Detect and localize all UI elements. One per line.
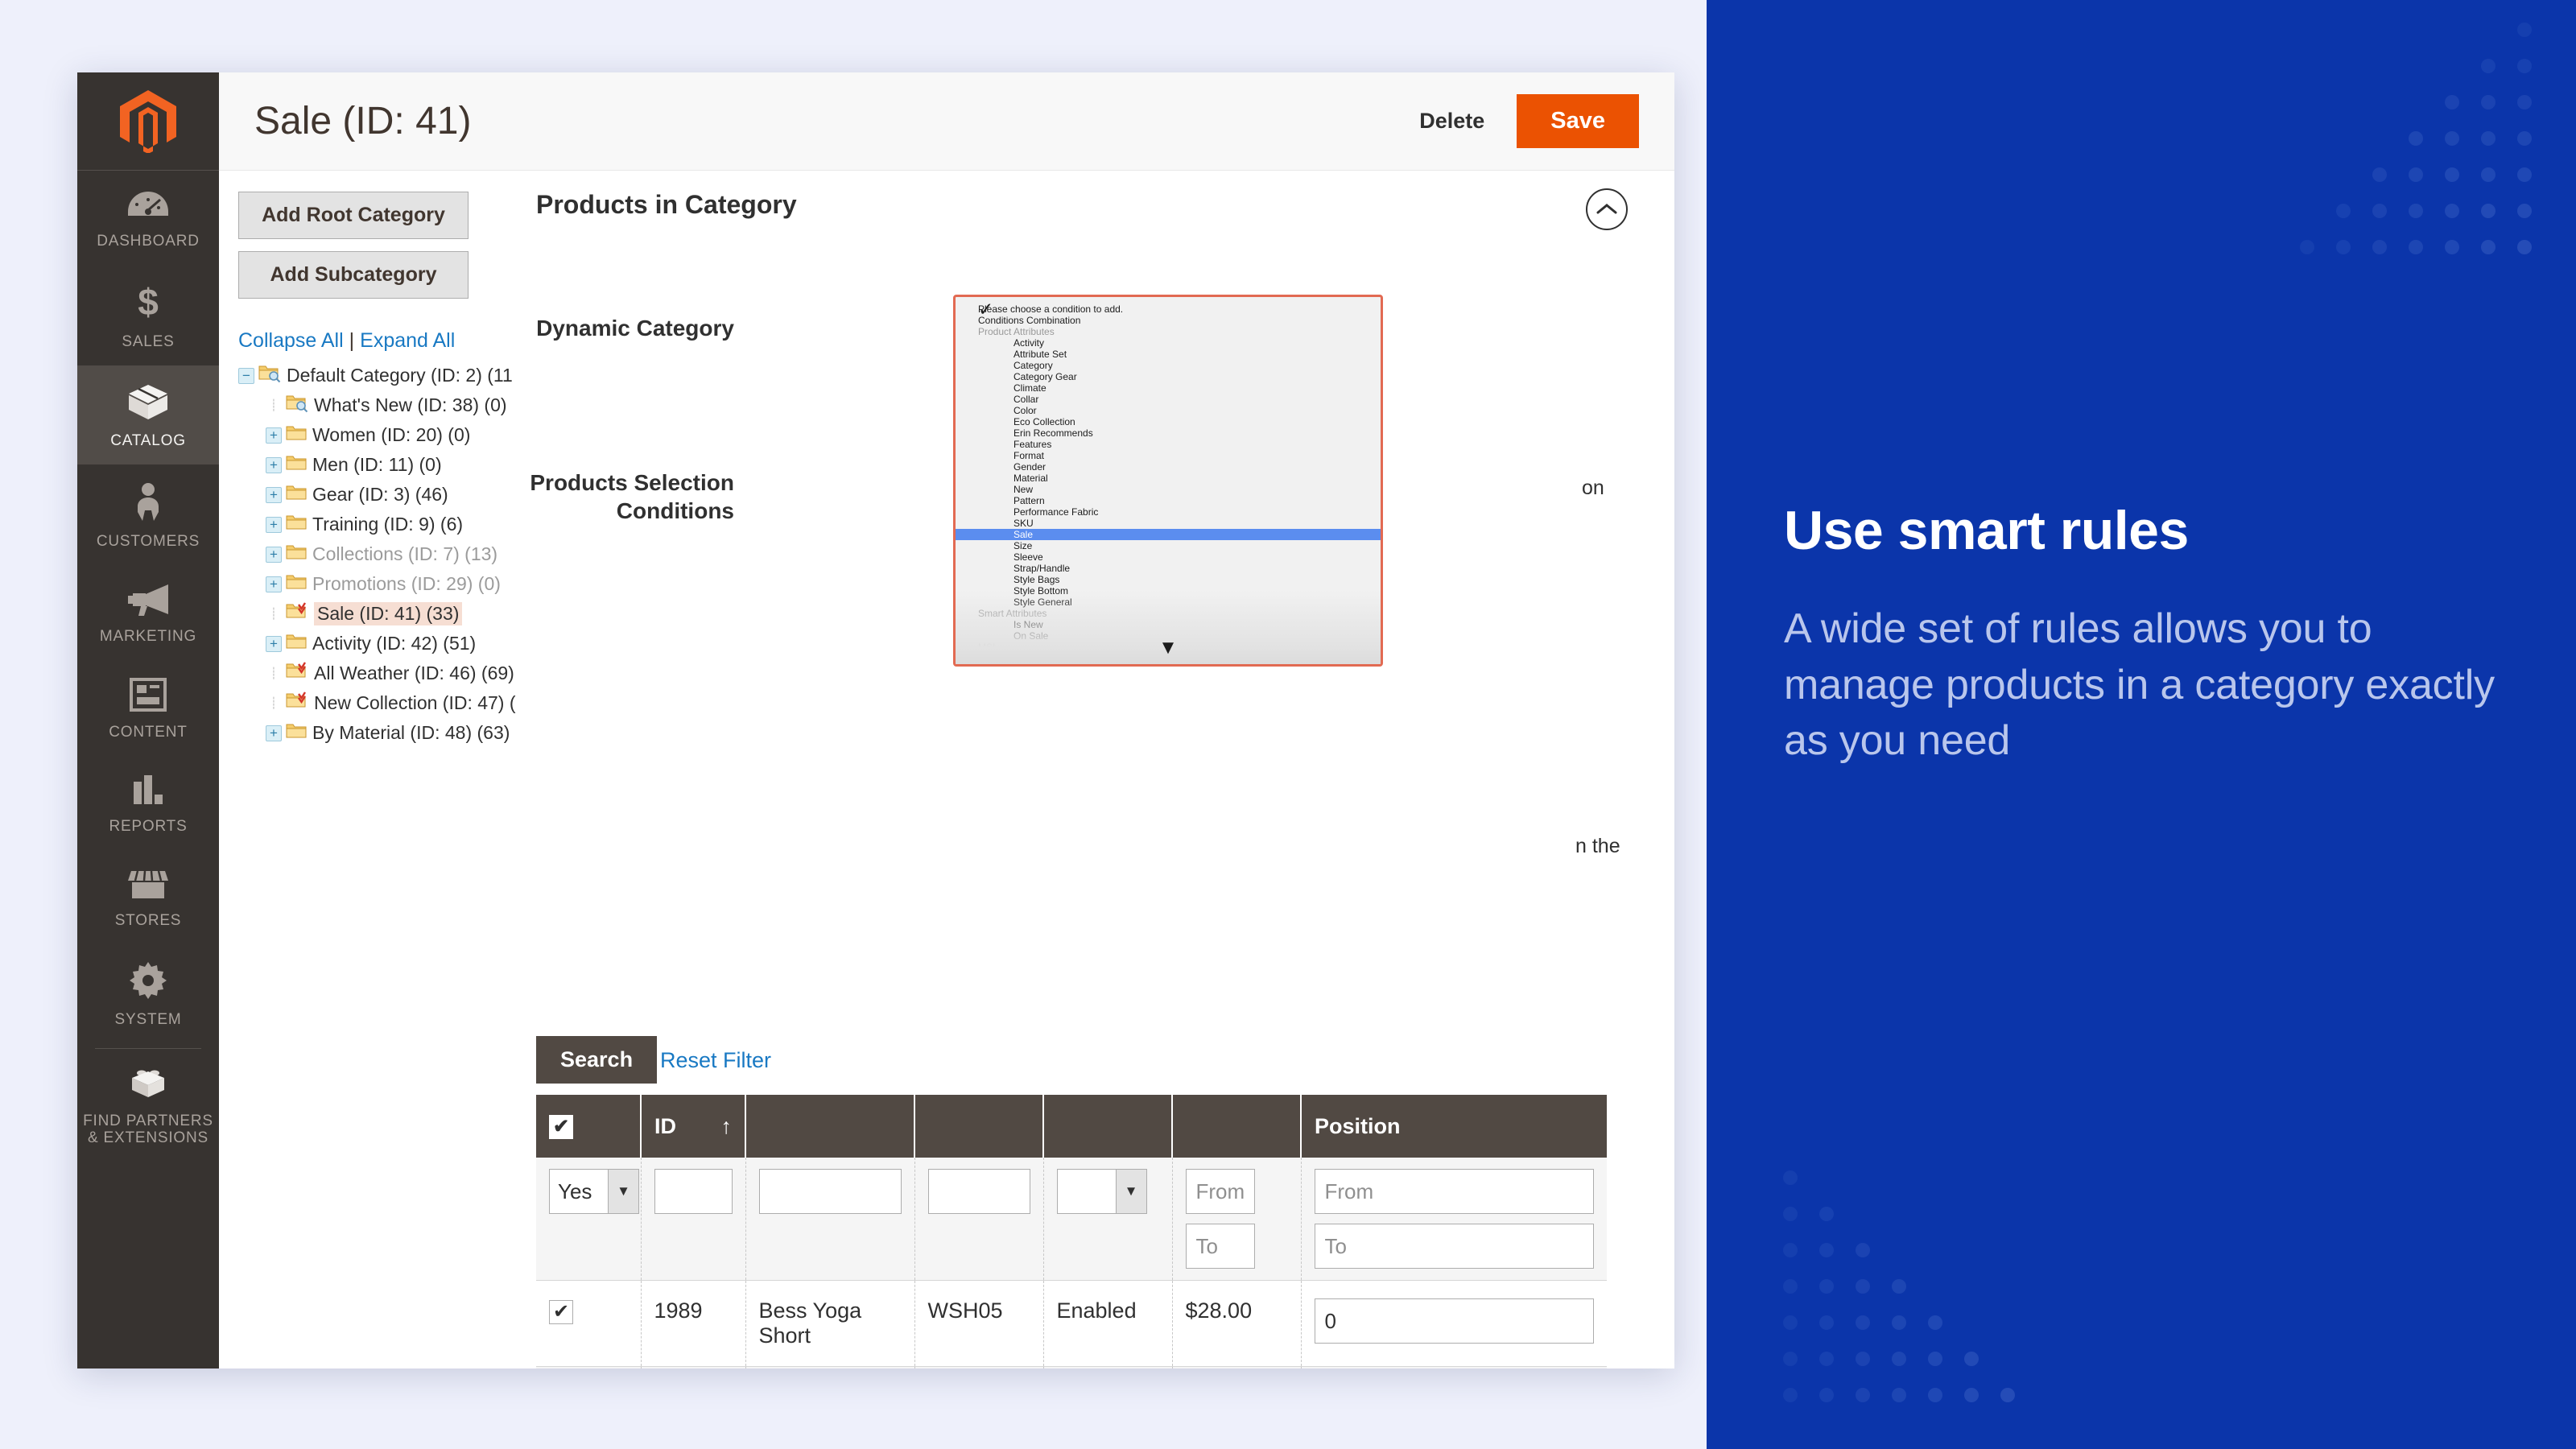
sidebar-item-label: DASHBOARD [80, 233, 216, 250]
folder-icon [286, 722, 307, 745]
dropdown-option[interactable]: Collar [956, 394, 1381, 405]
sidebar-item-label: CATALOG [80, 432, 216, 450]
grid-col-id[interactable]: ID ↑ [641, 1095, 745, 1158]
category-tree-node-label: By Material (ID: 48) (63) [312, 722, 510, 744]
category-tree-node[interactable]: ┊New Collection (ID: 47) ( [238, 688, 469, 718]
save-button[interactable]: Save [1517, 94, 1639, 148]
decorative-dot [1856, 1243, 1870, 1257]
decorative-dot [2481, 95, 2495, 109]
sidebar-item-reports[interactable]: REPORTS [77, 756, 219, 850]
filter-input-position-from[interactable] [1315, 1169, 1595, 1214]
category-tree-node-label: Training (ID: 9) (6) [312, 514, 463, 535]
row-cell-sku: WSH05 [914, 1281, 1043, 1367]
dropdown-option[interactable]: Color [956, 405, 1381, 416]
dropdown-option[interactable]: New [956, 484, 1381, 495]
promo-text-block: Use smart rules A wide set of rules allo… [1784, 502, 2508, 769]
filter-cell-select: Yes▼ [536, 1158, 641, 1281]
caret-down-icon: ▼ [1116, 1170, 1146, 1213]
filter-cell-position [1301, 1158, 1607, 1281]
decorative-dot [2517, 204, 2532, 218]
decorative-dot [2445, 204, 2459, 218]
dropdown-option[interactable]: Eco Collection [956, 416, 1381, 427]
decorative-dot [1783, 1170, 1798, 1185]
row-cell-price: $28.00 [1172, 1367, 1301, 1369]
dropdown-option[interactable]: Climate [956, 382, 1381, 394]
decorative-dot [2445, 167, 2459, 182]
filter-input-price-to[interactable] [1186, 1224, 1255, 1269]
row-cell-id: 1989 [641, 1281, 745, 1367]
dashboard-gauge-icon [80, 188, 216, 225]
obscured-text-fragment-2: n the [1575, 835, 1620, 858]
decorative-dot [1783, 1279, 1798, 1294]
tree-expand-icon[interactable]: + [266, 576, 282, 592]
folder-icon [286, 633, 307, 655]
tree-expand-icon[interactable]: + [266, 636, 282, 652]
promo-panel: Use smart rules A wide set of rules allo… [1707, 0, 2576, 1449]
dropdown-option[interactable]: Format [956, 450, 1381, 461]
tree-expand-icon[interactable]: + [266, 547, 282, 563]
dropdown-option[interactable]: Material [956, 473, 1381, 484]
magento-logo-icon [120, 90, 176, 153]
decorative-dot [1964, 1388, 1979, 1402]
sidebar-item-label: MARKETING [80, 628, 216, 646]
promo-subtitle: A wide set of rules allows you to manage… [1784, 601, 2508, 768]
category-tree-node-label: Activity (ID: 42) (51) [312, 633, 476, 654]
field-label-dynamic-category: Dynamic Category [485, 314, 734, 342]
decorative-dot [1819, 1207, 1834, 1221]
dropdown-option[interactable]: Sleeve [956, 551, 1381, 563]
puzzle-brick-icon [80, 1067, 216, 1104]
decorative-dot [2517, 95, 2532, 109]
tree-expand-icon[interactable]: + [266, 427, 282, 444]
tree-leaf-connector-icon: ┊ [266, 666, 282, 682]
sidebar-item-label: CUSTOMERS [80, 533, 216, 551]
tree-toggle-links: Collapse All|Expand All [238, 329, 469, 353]
sidebar-item-label: REPORTS [80, 818, 216, 836]
filter-select-value: Yes [550, 1170, 608, 1213]
filter-cell-sku [914, 1158, 1043, 1281]
decorative-dot [2409, 131, 2423, 146]
category-tree-node[interactable]: +Promotions (ID: 29) (0) [238, 569, 469, 599]
filter-input-name[interactable] [759, 1169, 902, 1214]
folder-icon [286, 514, 307, 536]
category-tree-panel: Add Root Category Add Subcategory Collap… [219, 171, 485, 748]
gear-icon [80, 962, 216, 1003]
promo-title: Use smart rules [1784, 502, 2508, 559]
sidebar-item-content[interactable]: CONTENT [77, 660, 219, 756]
section-title: Products in Category [536, 190, 797, 220]
dropdown-option[interactable]: Pattern [956, 495, 1381, 506]
dropdown-option[interactable]: Style Bottom [956, 585, 1381, 597]
row-cell-name: Maxima [745, 1367, 914, 1369]
dropdown-option[interactable]: Size [956, 540, 1381, 551]
folder-icon [286, 484, 307, 506]
dropdown-option[interactable]: Sale [956, 529, 1381, 540]
tree-collapse-icon[interactable]: − [238, 368, 254, 384]
tree-leaf-connector-icon: ┊ [266, 606, 282, 622]
category-tree-node[interactable]: ┊Sale (ID: 41) (33) [238, 599, 469, 629]
decorative-dot [1819, 1243, 1834, 1257]
category-tree-node-label: Men (ID: 11) (0) [312, 454, 442, 476]
grid-col-price[interactable] [1172, 1095, 1301, 1158]
decorative-dot [2409, 167, 2423, 182]
decorative-dot [2336, 204, 2351, 218]
decorative-dot [2000, 1388, 2015, 1402]
decorative-dot [2481, 204, 2495, 218]
dropdown-option[interactable]: Is New [956, 619, 1381, 630]
sidebar-item-marketing[interactable]: MARKETING [77, 564, 219, 660]
decorative-dot [2517, 240, 2532, 254]
filter-input-id[interactable] [654, 1169, 733, 1214]
category-tree-node[interactable]: −Default Category (ID: 2) (11 [238, 361, 469, 390]
storefront-icon [80, 868, 216, 904]
decorative-dots-bottom-left [1783, 1170, 2015, 1402]
tree-expand-icon[interactable]: + [266, 725, 282, 741]
decorative-dot [2445, 131, 2459, 146]
decorative-dot [1856, 1279, 1870, 1294]
dropdown-option[interactable]: Gender [956, 461, 1381, 473]
dropdown-option[interactable]: Erin Recommends [956, 427, 1381, 439]
decorative-dot [2445, 240, 2459, 254]
decorative-dot [1892, 1352, 1906, 1366]
category-tree-node[interactable]: ┊All Weather (ID: 46) (69) [238, 658, 469, 688]
admin-window: DASHBOARD $ SALES CATALOG CUSTOMERS [77, 72, 1674, 1368]
table-row[interactable]: ✔1989Bess Yoga ShortWSH05Enabled$28.00 [536, 1281, 1607, 1367]
category-tree-node[interactable]: ┊What's New (ID: 38) (0) [238, 390, 469, 420]
decorative-dot [2517, 167, 2532, 182]
collapse-section-button[interactable] [1586, 188, 1628, 230]
tree-leaf-connector-icon: ┊ [266, 398, 282, 414]
dropdown-option[interactable]: Features [956, 439, 1381, 450]
grid-header-row: ✔ ID ↑ Position [536, 1095, 1607, 1158]
select-all-checkbox[interactable]: ✔ [549, 1115, 573, 1139]
link-separator: | [349, 329, 355, 352]
category-tree-node[interactable]: +Collections (ID: 7) (13) [238, 539, 469, 569]
arrow-up-icon: ↑ [721, 1114, 733, 1139]
grid-col-sku[interactable] [914, 1095, 1043, 1158]
folder-search-icon [286, 394, 308, 418]
field-label-products-selection-conditions: Products Selection Conditions [485, 469, 734, 525]
dropdown-option[interactable]: Please choose a condition to add. [956, 303, 1381, 315]
row-cell-position [1301, 1281, 1607, 1367]
add-root-category-button[interactable]: Add Root Category [238, 192, 469, 239]
obscured-text-fragment-1: on [1582, 477, 1604, 500]
folder-icon [286, 424, 307, 447]
decorative-dot [2517, 23, 2532, 37]
caret-down-icon: ▼ [608, 1170, 638, 1213]
decorative-dots-top-right [2300, 23, 2532, 254]
decorative-dot [1783, 1243, 1798, 1257]
person-icon [80, 482, 216, 525]
decorative-dot [2372, 167, 2387, 182]
decorative-dot [2409, 204, 2423, 218]
dropdown-option-group: Product Attributes [956, 326, 1381, 337]
page-header: Sale (ID: 41) Delete Save [219, 72, 1674, 171]
dropdown-option[interactable]: SKU [956, 518, 1381, 529]
decorative-dot [2481, 131, 2495, 146]
grid-col-position[interactable]: Position [1301, 1095, 1607, 1158]
decorative-dot [2445, 95, 2459, 109]
dropdown-option[interactable]: Strap/Handle [956, 563, 1381, 574]
filter-select-in-category[interactable]: Yes▼ [549, 1169, 639, 1214]
add-subcategory-button[interactable]: Add Subcategory [238, 251, 469, 299]
svg-text:$: $ [138, 283, 159, 321]
decorative-dot [2372, 204, 2387, 218]
row-cell-status: Enabled [1043, 1367, 1172, 1369]
category-tree-node[interactable]: +Men (ID: 11) (0) [238, 450, 469, 480]
dropdown-option[interactable]: Style General [956, 597, 1381, 608]
decorative-dot [1783, 1207, 1798, 1221]
search-button[interactable]: Search [536, 1036, 657, 1084]
folder-rule-icon [286, 662, 308, 686]
decorative-dot [1928, 1315, 1942, 1330]
sidebar-item-sales[interactable]: $ SALES [77, 265, 219, 365]
grid-col-name[interactable] [745, 1095, 914, 1158]
category-tree-node-label: Default Category (ID: 2) (11 [287, 365, 513, 386]
tree-leaf-connector-icon: ┊ [266, 696, 282, 712]
chevron-up-circle-icon [1596, 202, 1618, 217]
expand-all-link[interactable]: Expand All [360, 329, 455, 352]
decorative-dot [1819, 1352, 1834, 1366]
decorative-dot [1892, 1315, 1906, 1330]
magento-logo[interactable] [77, 72, 219, 171]
dollar-sign-icon: $ [80, 283, 216, 325]
sidebar-item-customers[interactable]: CUSTOMERS [77, 464, 219, 565]
sidebar-item-stores[interactable]: STORES [77, 850, 219, 944]
category-tree: −Default Category (ID: 2) (11┊What's New… [238, 361, 469, 748]
row-cell-name: Bess Yoga Short [745, 1281, 914, 1367]
grid-filter-row: Yes▼▼ [536, 1158, 1607, 1281]
decorative-dot [1964, 1352, 1979, 1366]
decorative-dot [2300, 240, 2314, 254]
dropdown-option[interactable]: Attribute Set [956, 349, 1381, 360]
row-input-position[interactable] [1315, 1298, 1595, 1344]
row-cell-select: ✔ [536, 1281, 641, 1367]
decorative-dot [1783, 1315, 1798, 1330]
decorative-dot [2517, 59, 2532, 73]
decorative-dot [2481, 167, 2495, 182]
tree-expand-icon[interactable]: + [266, 457, 282, 473]
decorative-dot [1856, 1388, 1870, 1402]
admin-sidebar: DASHBOARD $ SALES CATALOG CUSTOMERS [77, 72, 219, 1368]
decorative-dot [2336, 240, 2351, 254]
dropdown-option-group: Smart Attributes [956, 608, 1381, 619]
category-tree-node[interactable]: +Training (ID: 9) (6) [238, 510, 469, 539]
products-grid: ✔ ID ↑ Position [536, 1095, 1607, 1368]
filter-cell-name [745, 1158, 914, 1281]
category-tree-node[interactable]: +Gear (ID: 3) (46) [238, 480, 469, 510]
tree-expand-icon[interactable]: + [266, 517, 282, 533]
row-cell-id: 1941 [641, 1367, 745, 1369]
row-cell-position [1301, 1367, 1607, 1369]
folder-rule-icon [286, 691, 308, 716]
delete-button[interactable]: Delete [1419, 109, 1484, 134]
sidebar-item-dashboard[interactable]: DASHBOARD [77, 171, 219, 265]
dropdown-option[interactable]: Activity [956, 337, 1381, 349]
filter-input-price-from[interactable] [1186, 1169, 1255, 1214]
decorative-dot [1819, 1315, 1834, 1330]
box-icon [80, 383, 216, 424]
category-tree-node-label: Women (ID: 20) (0) [312, 424, 470, 446]
sidebar-item-system[interactable]: SYSTEM [77, 944, 219, 1043]
folder-icon [286, 543, 307, 566]
decorative-dot [1783, 1388, 1798, 1402]
collapse-all-link[interactable]: Collapse All [238, 329, 344, 352]
category-tree-node[interactable]: +Activity (ID: 42) (51) [238, 629, 469, 658]
filter-cell-status: ▼ [1043, 1158, 1172, 1281]
grid-col-id-label: ID [654, 1114, 676, 1138]
sidebar-item-find-partners[interactable]: FIND PARTNERS & EXTENSIONS [77, 1049, 219, 1162]
decorative-dot [1856, 1352, 1870, 1366]
category-tree-node-label: Gear (ID: 3) (46) [312, 484, 448, 506]
folder-search-icon [258, 364, 281, 388]
row-cell-status: Enabled [1043, 1281, 1172, 1367]
layout-page-icon [80, 678, 216, 716]
row-cell-price: $28.00 [1172, 1281, 1301, 1367]
decorative-dot [2517, 131, 2532, 146]
decorative-dot [2481, 59, 2495, 73]
decorative-dot [2409, 240, 2423, 254]
folder-icon [286, 573, 307, 596]
header-actions: Delete Save [1419, 94, 1639, 148]
category-tree-node-label: Promotions (ID: 29) (0) [312, 573, 501, 595]
sidebar-item-label: FIND PARTNERS & EXTENSIONS [80, 1113, 216, 1148]
dropdown-option[interactable]: Category Gear [956, 371, 1381, 382]
decorative-dot [1783, 1352, 1798, 1366]
grid-col-select-all[interactable]: ✔ [536, 1095, 641, 1158]
grid-col-status[interactable] [1043, 1095, 1172, 1158]
row-checkbox[interactable]: ✔ [549, 1300, 573, 1324]
category-tree-node-label: Collections (ID: 7) (13) [312, 543, 497, 565]
folder-rule-icon [286, 602, 308, 626]
sidebar-item-label: CONTENT [80, 724, 216, 741]
decorative-dot [1819, 1388, 1834, 1402]
sidebar-item-catalog[interactable]: CATALOG [77, 365, 219, 464]
folder-icon [286, 454, 307, 477]
decorative-dot [1892, 1388, 1906, 1402]
filter-input-position-to[interactable] [1315, 1224, 1595, 1269]
decorative-dot [1928, 1388, 1942, 1402]
dropdown-option[interactable]: Conditions Combination [956, 315, 1381, 326]
dropdown-option[interactable]: Performance Fabric [956, 506, 1381, 518]
reset-filter-link[interactable]: Reset Filter [660, 1048, 771, 1073]
bar-chart-icon [80, 774, 216, 810]
category-tree-node-label: Sale (ID: 41) (33) [314, 602, 462, 625]
page-content: Add Root Category Add Subcategory Collap… [219, 171, 1674, 1368]
category-tree-node[interactable]: +Women (ID: 20) (0) [238, 420, 469, 450]
tree-expand-icon[interactable]: + [266, 487, 282, 503]
dropdown-option[interactable]: Style Bags [956, 574, 1381, 585]
decorative-dot [2481, 240, 2495, 254]
decorative-dot [1928, 1352, 1942, 1366]
category-tree-node[interactable]: +By Material (ID: 48) (63) [238, 718, 469, 748]
sidebar-item-label: SALES [80, 333, 216, 351]
dropdown-option[interactable]: Category [956, 360, 1381, 371]
decorative-dot [1819, 1279, 1834, 1294]
sidebar-item-label: SYSTEM [80, 1011, 216, 1029]
filter-cell-price [1172, 1158, 1301, 1281]
condition-select-dropdown[interactable]: Please choose a condition to add.Conditi… [953, 295, 1383, 667]
filter-input-sku[interactable] [928, 1169, 1030, 1214]
megaphone-icon [80, 582, 216, 620]
decorative-dot [1856, 1315, 1870, 1330]
decorative-dot [1892, 1279, 1906, 1294]
sidebar-item-label: STORES [80, 912, 216, 930]
decorative-dot [2372, 240, 2387, 254]
dropdown-option-list[interactable]: Please choose a condition to add.Conditi… [956, 297, 1381, 664]
page-title: Sale (ID: 41) [254, 99, 471, 143]
dropdown-scroll-down-arrow[interactable]: ▼ [956, 637, 1381, 659]
filter-cell-id [641, 1158, 745, 1281]
filter-select-status[interactable]: ▼ [1057, 1169, 1147, 1214]
row-cell-sku: WSH02 [914, 1367, 1043, 1369]
table-row[interactable]: ✔1941MaximaWSH02Enabled$28.00 [536, 1367, 1607, 1369]
row-cell-select: ✔ [536, 1367, 641, 1369]
category-tree-node-label: What's New (ID: 38) (0) [314, 394, 507, 416]
